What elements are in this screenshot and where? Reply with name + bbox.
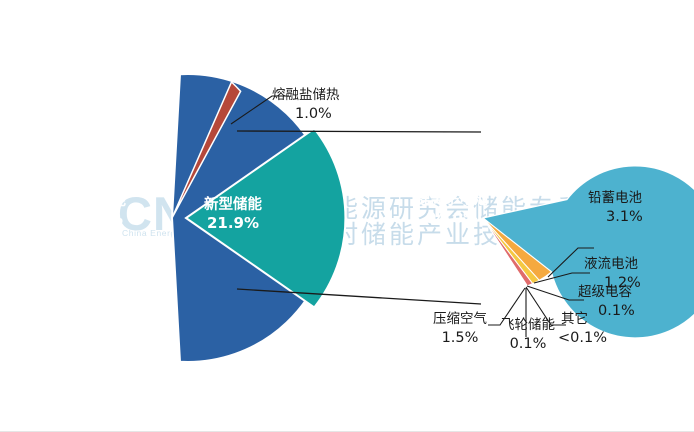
leader-compressed-air	[488, 288, 525, 325]
right-pie-group	[483, 166, 694, 338]
pie-chart-figure: CNESA China Energy Storage Alliance 中国能源…	[0, 0, 694, 432]
left-pie-group	[172, 74, 345, 362]
pie-chart-svg	[0, 0, 694, 432]
